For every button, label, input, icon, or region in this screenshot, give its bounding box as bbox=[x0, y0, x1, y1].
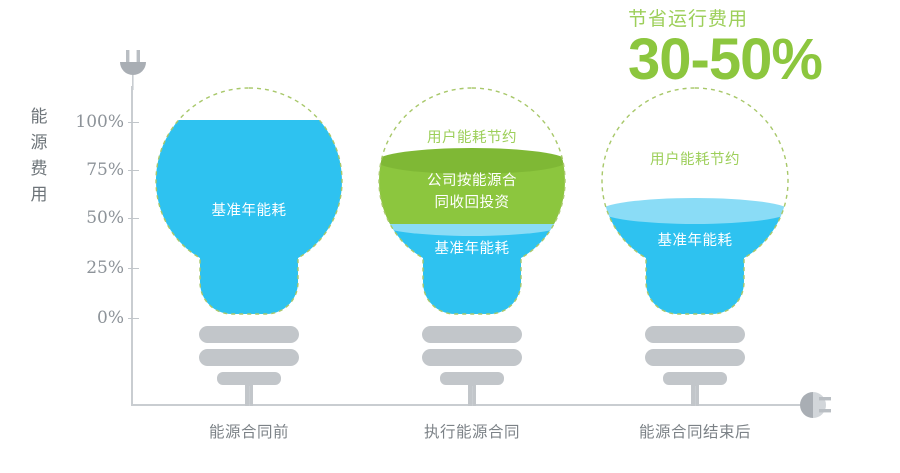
y-tick-dash bbox=[128, 122, 139, 123]
power-plug-icon bbox=[118, 50, 148, 90]
x-label-1: 能源合同前 bbox=[149, 420, 349, 442]
headline-value: 30-50% bbox=[628, 32, 822, 88]
y-tick-dash bbox=[128, 268, 139, 269]
bulb-stage-2: 用户能耗节约 公司按能源合同收回投资 基准年能耗 bbox=[377, 86, 567, 336]
bulb-base-bar bbox=[199, 349, 299, 366]
bulb-outline-3 bbox=[597, 83, 793, 321]
y-tick-75: 75% bbox=[62, 160, 124, 180]
infographic-chart: 节省运行费用 30-50% 能源费用 100% 75% 50% 25% 0% bbox=[0, 0, 900, 473]
headline-block: 节省运行费用 30-50% bbox=[628, 6, 822, 88]
bulb-base-bar bbox=[422, 326, 522, 343]
bulb-3-segment-label-baseline: 基准年能耗 bbox=[600, 230, 790, 252]
y-axis-title: 能源费用 bbox=[28, 104, 50, 208]
bulb-base-bar bbox=[645, 326, 745, 343]
x-gridline-2 bbox=[472, 386, 473, 406]
x-label-2: 执行能源合同 bbox=[372, 420, 572, 442]
y-tick-0: 0% bbox=[62, 308, 124, 328]
bulb-base-bar bbox=[645, 349, 745, 366]
y-tick-50: 50% bbox=[62, 208, 124, 228]
y-tick-100: 100% bbox=[62, 112, 124, 132]
x-gridline-3 bbox=[695, 386, 696, 406]
bulb-base-bar bbox=[422, 349, 522, 366]
bulb-2-segment-label-investment: 公司按能源合同收回投资 bbox=[377, 170, 567, 214]
bulb-2-segment-label-baseline: 基准年能耗 bbox=[377, 238, 567, 260]
bulb-stage-1: 基准年能耗 bbox=[154, 86, 344, 336]
bulb-stage-3: 用户能耗节约 基准年能耗 bbox=[600, 86, 790, 336]
y-axis-line bbox=[131, 86, 133, 406]
x-gridline-1 bbox=[249, 386, 250, 406]
x-axis-line bbox=[131, 404, 803, 406]
y-tick-dash bbox=[128, 170, 139, 171]
y-tick-25: 25% bbox=[62, 258, 124, 278]
power-plug-icon bbox=[795, 386, 831, 424]
y-tick-dash bbox=[128, 218, 139, 219]
bulb-3-top-label: 用户能耗节约 bbox=[600, 148, 790, 169]
bulb-2-top-label: 用户能耗节约 bbox=[377, 126, 567, 147]
x-label-3: 能源合同结束后 bbox=[595, 420, 795, 442]
y-tick-dash bbox=[128, 318, 139, 319]
bulb-base-bar bbox=[199, 326, 299, 343]
bulb-1-segment-label-baseline: 基准年能耗 bbox=[154, 200, 344, 222]
